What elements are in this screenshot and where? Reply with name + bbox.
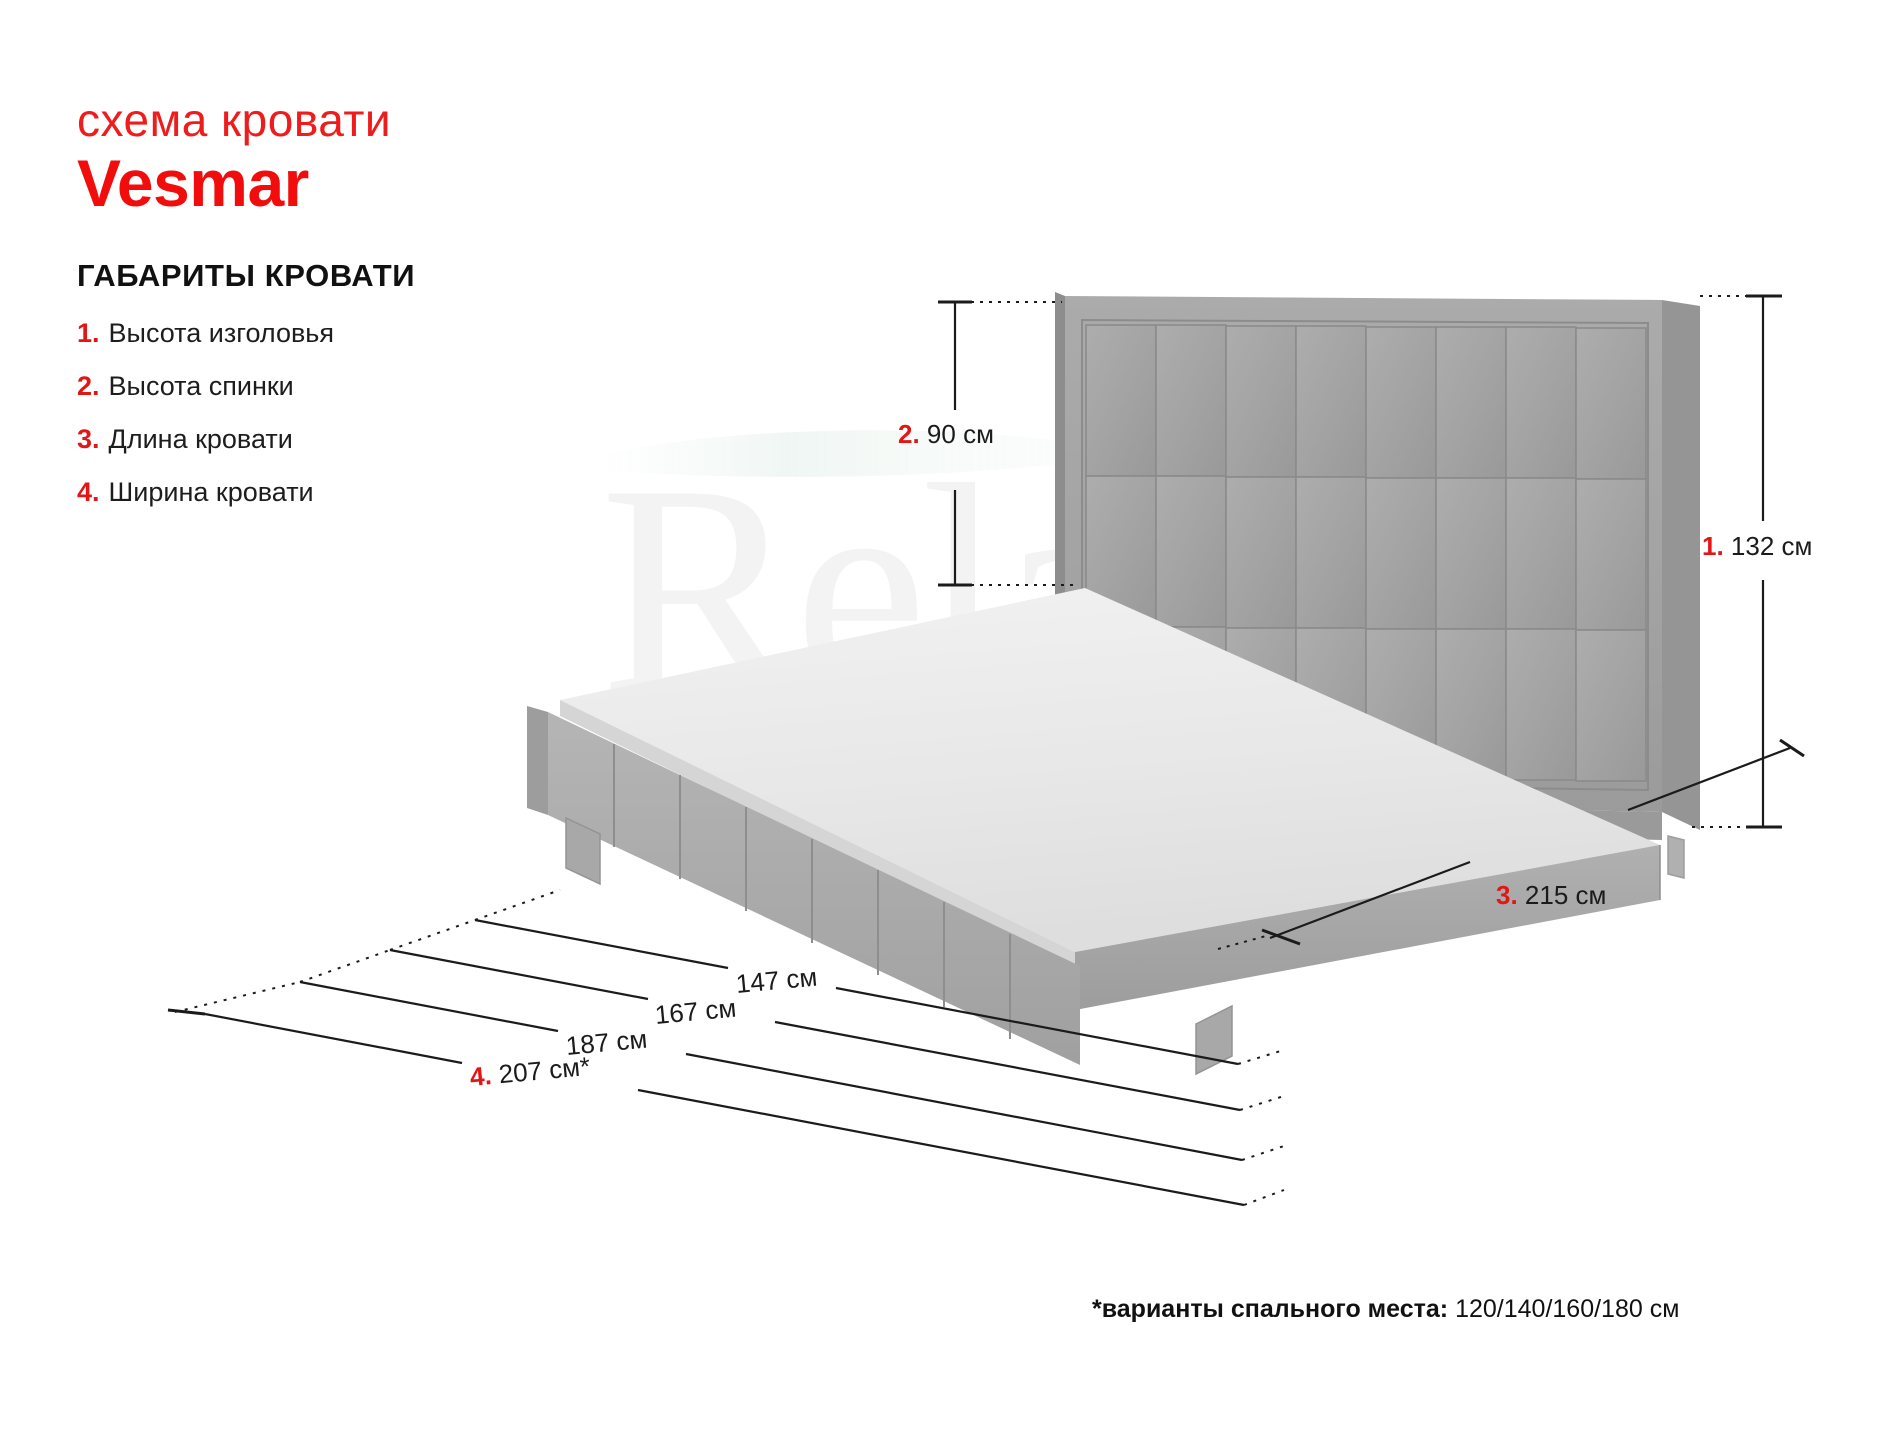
dimension-value: 90 см (927, 419, 994, 449)
footnote-values: 120/140/160/180 см (1448, 1295, 1679, 1323)
dimension-label-headboard-height: 1. 132 см (1702, 531, 1812, 562)
footnote: *варианты спального места: 120/140/160/1… (1092, 1295, 1679, 1324)
page-title: Vesmar (77, 150, 697, 217)
list-item-label: Высота изголовья (109, 320, 334, 347)
list-item-number: 3. (77, 426, 100, 453)
list-item-label: Ширина кровати (109, 479, 314, 506)
dimension-number: 4. (469, 1060, 493, 1092)
dimension-label-backrest-height: 2. 90 см (898, 419, 994, 450)
diagram-canvas: Relaxe textil decoration (0, 0, 1900, 1444)
list-item: 1. Высота изголовья (77, 320, 697, 347)
list-item-number: 4. (77, 479, 100, 506)
bed-3d-model (527, 292, 1700, 1074)
specs-heading: ГАБАРИТЫ КРОВАТИ (77, 258, 697, 294)
list-item: 2. Высота спинки (77, 373, 697, 400)
specs-list: 1. Высота изголовья 2. Высота спинки 3. … (77, 320, 697, 506)
dimension-number: 2. (898, 419, 920, 449)
list-item-label: Высота спинки (109, 373, 294, 400)
info-block: схема кровати Vesmar ГАБАРИТЫ КРОВАТИ 1.… (77, 96, 697, 532)
list-item-number: 1. (77, 320, 100, 347)
page-kicker: схема кровати (77, 96, 697, 144)
footnote-label: *варианты спального места: (1092, 1295, 1448, 1323)
dimension-value: 215 см (1525, 880, 1606, 910)
list-item: 3. Длина кровати (77, 426, 697, 453)
list-item: 4. Ширина кровати (77, 479, 697, 506)
list-item-number: 2. (77, 373, 100, 400)
dimension-label-bed-length: 3. 215 см (1496, 880, 1606, 911)
dimension-number: 3. (1496, 880, 1518, 910)
list-item-label: Длина кровати (109, 426, 293, 453)
dimension-value: 132 см (1731, 531, 1812, 561)
dimension-number: 1. (1702, 531, 1724, 561)
